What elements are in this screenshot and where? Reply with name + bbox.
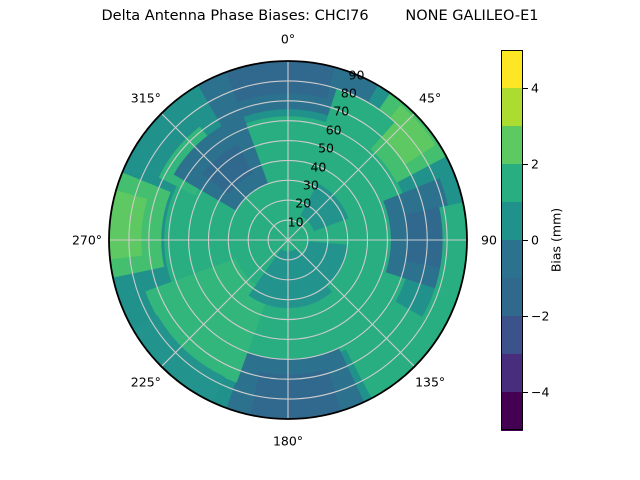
colorbar-tick [523, 240, 528, 241]
colorbar-band [501, 316, 523, 355]
azimuth-label-0: 0° [281, 32, 295, 47]
colorbar-tick-label: −2 [531, 309, 549, 324]
colorbar-tick [523, 88, 528, 89]
radial-label-70: 70 [333, 104, 349, 119]
azimuth-label-45: 45° [419, 90, 441, 105]
radial-label-40: 40 [310, 159, 326, 174]
colorbar-band [501, 240, 523, 279]
contour-patch [405, 208, 443, 267]
figure-title: Delta Antenna Phase Biases: CHCI76 NONE … [0, 8, 640, 24]
azimuth-label-180: 180° [273, 434, 303, 449]
contour-patch [109, 191, 147, 259]
polar-axes [108, 60, 468, 420]
azimuth-label-225: 225° [131, 375, 161, 390]
colorbar-tick-label: 0 [531, 233, 539, 248]
colorbar-band [501, 126, 523, 165]
colorbar-band [501, 202, 523, 241]
azimuth-label-315: 315° [131, 90, 161, 105]
radial-label-60: 60 [326, 122, 342, 137]
azimuth-label-270: 270° [72, 233, 102, 248]
colorbar-tick [523, 392, 528, 393]
colorbar-band [501, 50, 523, 89]
colorbar-tick-label: −4 [531, 385, 549, 400]
colorbar-band [501, 354, 523, 393]
colorbar-band [501, 88, 523, 127]
colorbar-tick-label: 2 [531, 157, 539, 172]
polar-contour-plot [108, 60, 468, 420]
radial-label-50: 50 [318, 141, 334, 156]
colorbar [501, 50, 523, 430]
radial-label-20: 20 [295, 196, 311, 211]
colorbar-tick-label: 4 [531, 81, 539, 96]
radial-label-30: 30 [303, 177, 319, 192]
radial-label-10: 10 [288, 214, 304, 229]
colorbar-band [501, 278, 523, 317]
radial-label-80: 80 [341, 86, 357, 101]
figure-canvas: Delta Antenna Phase Biases: CHCI76 NONE … [0, 0, 640, 480]
colorbar-tick [523, 164, 528, 165]
azimuth-label-135: 135° [415, 375, 445, 390]
colorbar-band [501, 392, 523, 431]
polar-grid-layer [109, 61, 467, 419]
colorbar-band [501, 164, 523, 203]
colorbar-tick [523, 316, 528, 317]
colorbar-axis-label: Bias (mm) [549, 208, 564, 272]
azimuth-label-90: 90 [481, 233, 497, 248]
radial-label-90: 90 [349, 67, 365, 82]
